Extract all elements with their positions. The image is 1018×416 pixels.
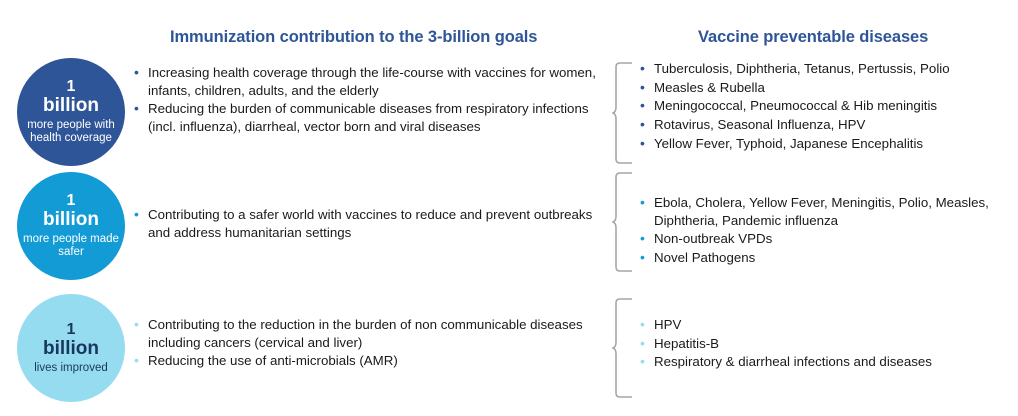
goal-bullet-list: Contributing to a safer world with vacci… bbox=[134, 206, 604, 242]
circle-unit: billion bbox=[43, 210, 99, 231]
list-item: Respiratory & diarrheal infections and d… bbox=[640, 353, 1010, 371]
circle-number: 1 bbox=[67, 78, 76, 95]
circle-subtitle: lives improved bbox=[34, 362, 108, 376]
list-item: Reducing the burden of communicable dise… bbox=[134, 100, 604, 135]
list-item: Tuberculosis, Diphtheria, Tetanus, Pertu… bbox=[640, 60, 1010, 78]
list-item: Ebola, Cholera, Yellow Fever, Meningitis… bbox=[640, 194, 1010, 229]
goal-circle: 1 billion lives improved bbox=[17, 294, 125, 402]
list-item: HPV bbox=[640, 316, 1010, 334]
circle-subtitle: more people made safer bbox=[23, 233, 119, 260]
circle-unit: billion bbox=[43, 339, 99, 360]
list-item: Increasing health coverage through the l… bbox=[134, 64, 604, 99]
list-item: Meningococcal, Pneumococcal & Hib mening… bbox=[640, 97, 1010, 115]
goal-bullet-list: Increasing health coverage through the l… bbox=[134, 64, 604, 137]
list-item: Hepatitis-B bbox=[640, 335, 1010, 353]
circle-number: 1 bbox=[67, 192, 76, 209]
list-item: Contributing to a safer world with vacci… bbox=[134, 206, 604, 241]
goal-row: 1 billion more people with health covera… bbox=[0, 58, 1018, 168]
goal-bullet-list: Contributing to the reduction in the bur… bbox=[134, 316, 604, 371]
disease-bullet-list: Ebola, Cholera, Yellow Fever, Meningitis… bbox=[640, 194, 1010, 268]
page-title-diseases: Vaccine preventable diseases bbox=[698, 28, 928, 47]
list-item: Novel Pathogens bbox=[640, 249, 1010, 267]
circle-unit: billion bbox=[43, 96, 99, 117]
list-item: Non-outbreak VPDs bbox=[640, 230, 1010, 248]
circle-number: 1 bbox=[67, 321, 76, 338]
goal-row: 1 billion more people made safer Contrib… bbox=[0, 172, 1018, 282]
goal-row: 1 billion lives improved Contributing to… bbox=[0, 290, 1018, 406]
list-item: Reducing the use of anti-microbials (AMR… bbox=[134, 352, 604, 370]
brace-connector-icon bbox=[612, 62, 634, 164]
circle-subtitle: more people with health coverage bbox=[23, 119, 119, 146]
brace-connector-icon bbox=[612, 298, 634, 398]
column-headers: Immunization contribution to the 3-billi… bbox=[0, 28, 1018, 58]
goal-circle: 1 billion more people with health covera… bbox=[17, 58, 125, 166]
page-title-goals: Immunization contribution to the 3-billi… bbox=[170, 28, 537, 47]
list-item: Contributing to the reduction in the bur… bbox=[134, 316, 604, 351]
brace-connector-icon bbox=[612, 172, 634, 272]
disease-bullet-list: Tuberculosis, Diphtheria, Tetanus, Pertu… bbox=[640, 60, 1010, 153]
disease-bullet-list: HPVHepatitis-BRespiratory & diarrheal in… bbox=[640, 316, 1010, 372]
list-item: Yellow Fever, Typhoid, Japanese Encephal… bbox=[640, 135, 1010, 153]
goal-circle: 1 billion more people made safer bbox=[17, 172, 125, 280]
list-item: Rotavirus, Seasonal Influenza, HPV bbox=[640, 116, 1010, 134]
list-item: Measles & Rubella bbox=[640, 79, 1010, 97]
